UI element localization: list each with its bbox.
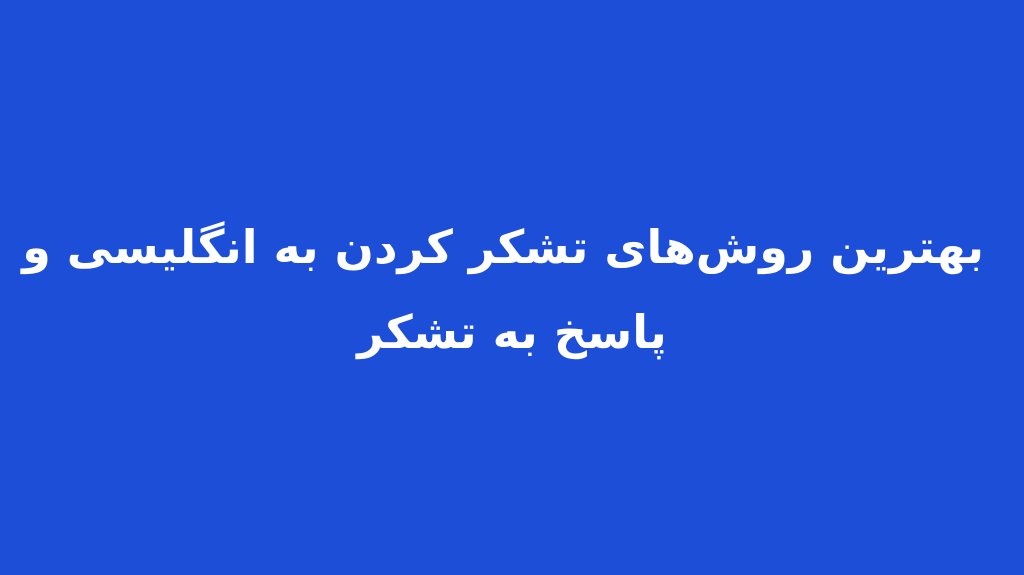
title-line-1: بهترین روش‌های تشکر کردن به انگلیسی و: [40, 205, 984, 290]
title-line-2: پاسخ به تشکر: [40, 290, 984, 375]
title-slide: بهترین روش‌های تشکر کردن به انگلیسی و پا…: [0, 0, 1024, 575]
page-title: بهترین روش‌های تشکر کردن به انگلیسی و پا…: [0, 205, 1024, 375]
